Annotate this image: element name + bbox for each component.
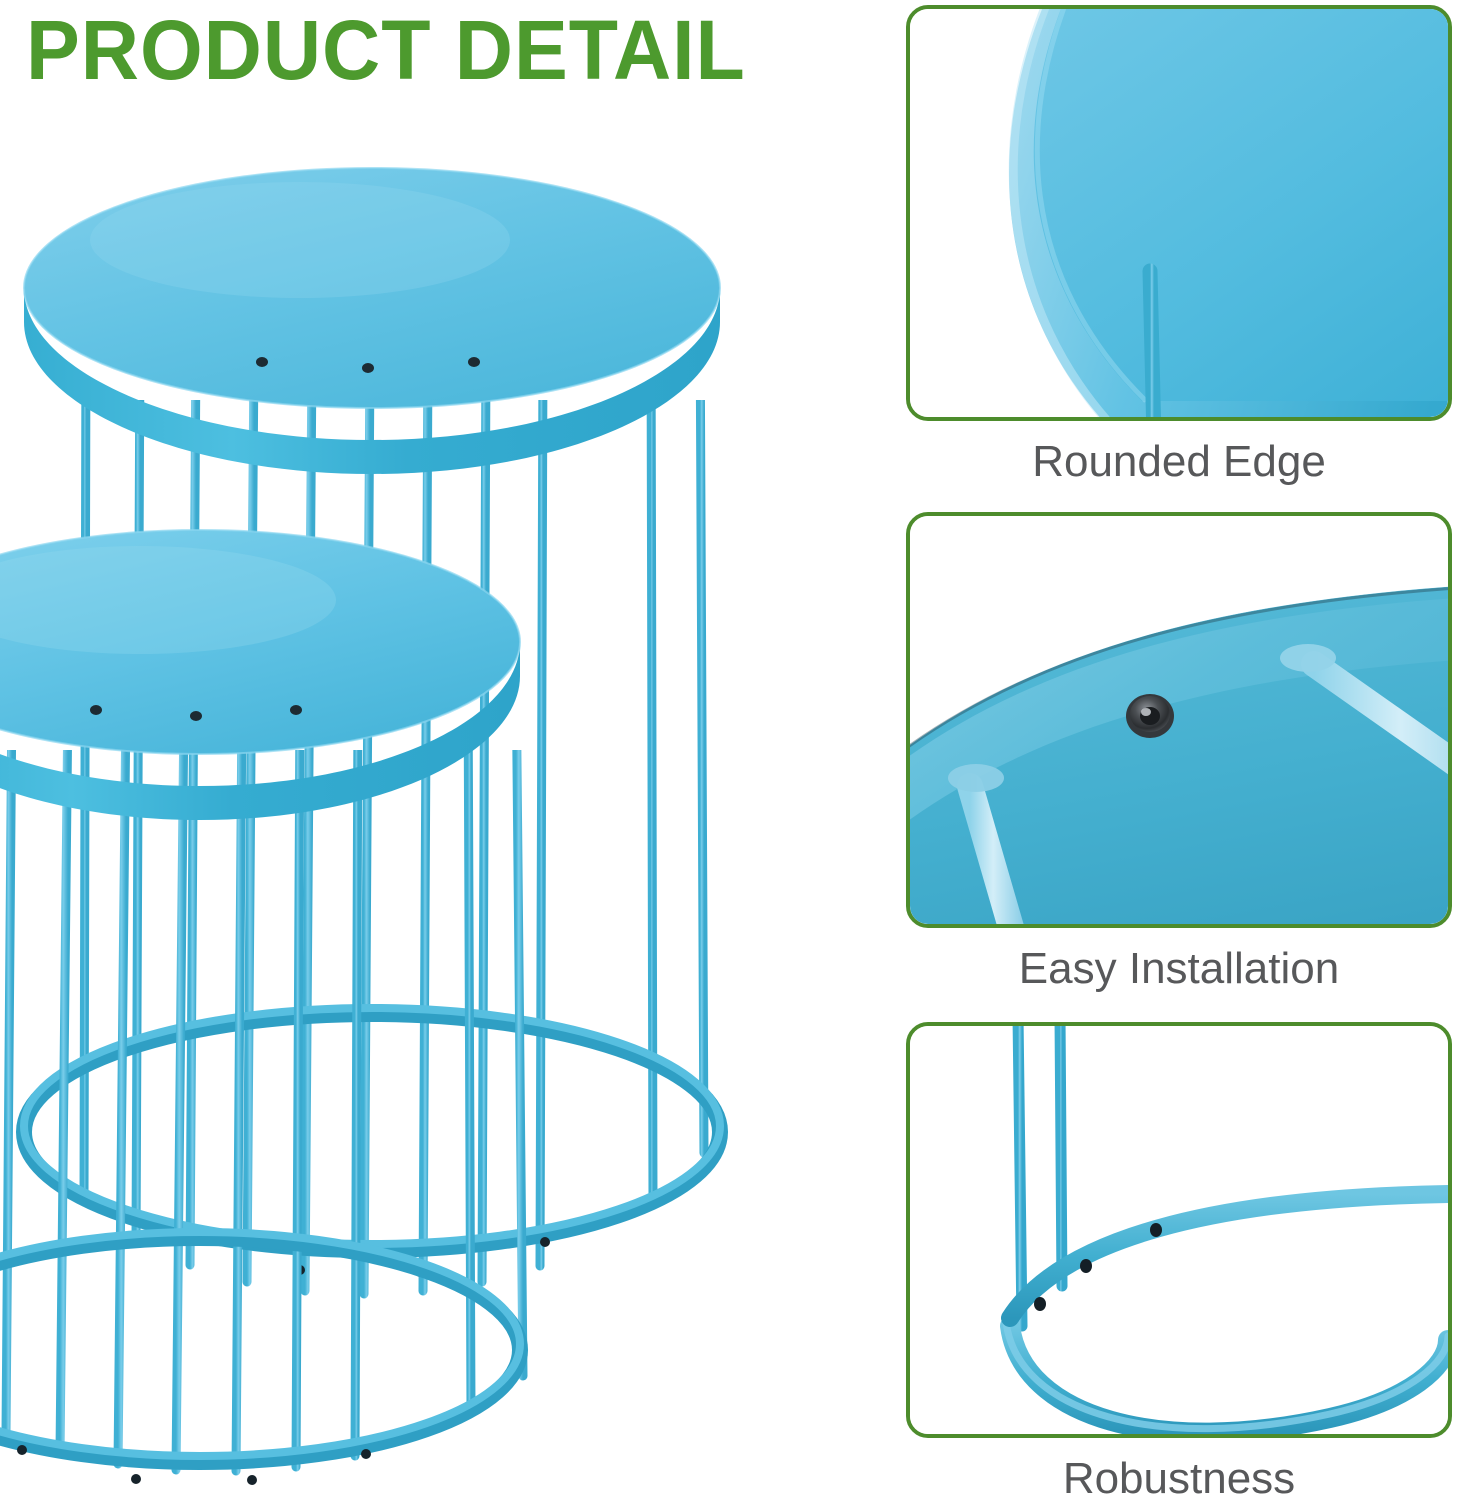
nesting-table-illustration — [0, 110, 880, 1500]
small-table-top — [0, 530, 520, 820]
feature-caption-rounded-edge: Rounded Edge — [906, 421, 1452, 493]
easy-installation-image-frame — [906, 512, 1452, 928]
small-table-base-ring — [0, 1232, 520, 1485]
robustness-closeup — [910, 1026, 1448, 1434]
rounded-edge-closeup — [910, 9, 1448, 417]
page-title: PRODUCT DETAIL — [26, 2, 746, 98]
robustness-image-frame — [906, 1022, 1452, 1438]
hero-product-image — [0, 110, 880, 1500]
feature-card-rounded-edge: Rounded Edge — [906, 5, 1452, 493]
rounded-edge-image-frame — [906, 5, 1452, 421]
easy-installation-closeup — [910, 516, 1448, 924]
feature-card-robustness: Robustness — [906, 1022, 1452, 1510]
feature-caption-easy-installation: Easy Installation — [906, 928, 1452, 1000]
feature-panel-column: Rounded Edge — [900, 0, 1463, 1500]
feature-caption-robustness: Robustness — [906, 1438, 1452, 1510]
feature-card-easy-installation: Easy Installation — [906, 512, 1452, 1000]
screw-fastener — [1126, 694, 1174, 738]
